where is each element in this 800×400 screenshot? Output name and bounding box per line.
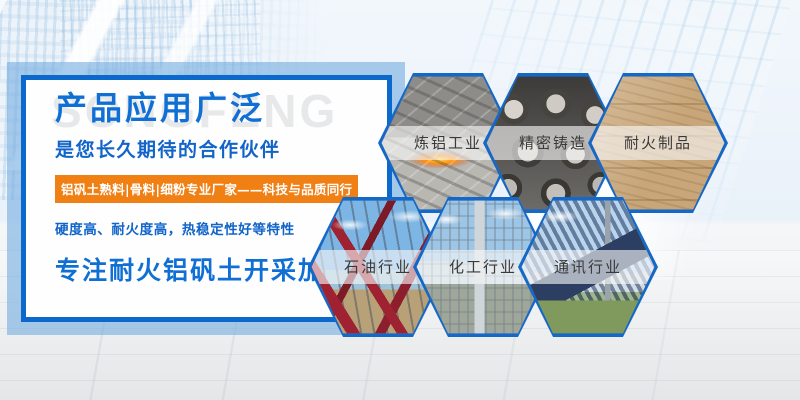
orange-tagline-band: 铝矾土熟料|骨料|细粉专业厂家——科技与品质同行 [55, 175, 358, 203]
hexagon-label: 耐火制品 [588, 126, 728, 160]
subtitle: 是您长久期待的合作伙伴 [55, 135, 385, 162]
promotional-banner: SONGFENG 产品应用广泛 是您长久期待的合作伙伴 铝矾土熟料|骨料|细粉专… [0, 0, 800, 400]
page-title: 产品应用广泛 [55, 92, 385, 126]
hexagon-label: 通讯行业 [518, 250, 658, 284]
